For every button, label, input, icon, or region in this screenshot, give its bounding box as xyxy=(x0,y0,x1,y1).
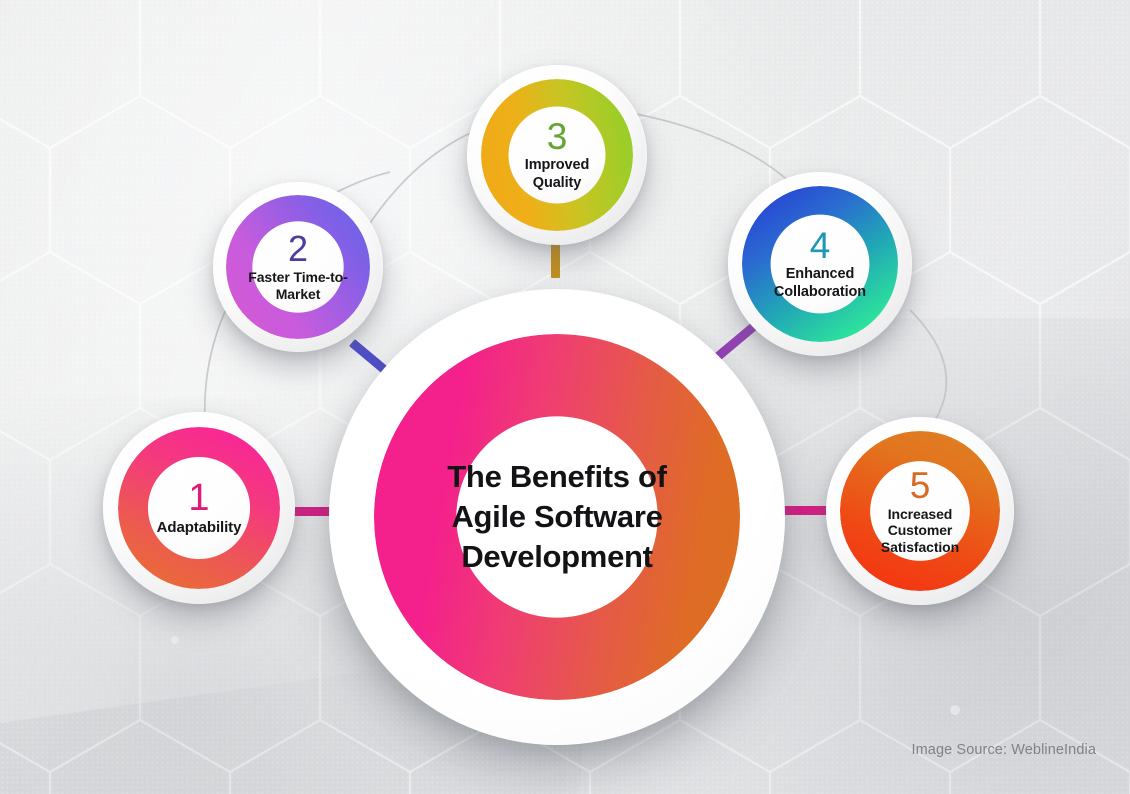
image-source-credit: Image Source: WeblineIndia xyxy=(912,742,1097,758)
node-3-content: 3 Improved Quality xyxy=(481,118,632,191)
node-4-content: 4 Enhanced Collaboration xyxy=(743,227,898,300)
node-5-label: Increased Customer Satisfaction xyxy=(841,506,999,556)
node-2-label-line-1: Faster Time-to- xyxy=(227,269,370,286)
node-4-label: Enhanced Collaboration xyxy=(743,266,898,300)
node-3-number: 3 xyxy=(481,118,632,155)
hub-title-line-2: Agile Software xyxy=(412,497,702,537)
hub-title-line-3: Development xyxy=(412,537,702,577)
node-2-label: Faster Time-to- Market xyxy=(227,269,370,302)
node-5-label-line-1: Increased xyxy=(841,506,999,523)
node-4-label-line-2: Collaboration xyxy=(743,284,898,301)
benefit-node-5[interactable]: 5 Increased Customer Satisfaction xyxy=(826,417,1014,605)
node-4-label-line-1: Enhanced xyxy=(743,266,898,283)
node-1-number: 1 xyxy=(118,479,279,517)
node-5-label-line-2: Customer xyxy=(841,522,999,539)
node-1-label: Adaptability xyxy=(118,519,279,537)
infographic-canvas: The Benefits of Agile Software Developme… xyxy=(0,0,1130,794)
node-5-number: 5 xyxy=(841,467,999,504)
node-4-number: 4 xyxy=(743,227,898,264)
node-1-content: 1 Adaptability xyxy=(118,479,279,537)
benefit-node-2[interactable]: 2 Faster Time-to- Market xyxy=(213,182,383,352)
node-3-label: Improved Quality xyxy=(481,157,632,191)
benefit-node-4[interactable]: 4 Enhanced Collaboration xyxy=(728,172,912,356)
node-2-number: 2 xyxy=(227,231,370,267)
arc-node4-node5 xyxy=(910,310,946,428)
node-1-label-line-1: Adaptability xyxy=(118,519,279,537)
node-5-content: 5 Increased Customer Satisfaction xyxy=(841,467,999,556)
node-2-label-line-2: Market xyxy=(227,286,370,303)
node-3-label-line-2: Quality xyxy=(481,175,632,192)
hub-title-line-1: The Benefits of xyxy=(412,457,702,497)
node-2-content: 2 Faster Time-to- Market xyxy=(227,231,370,302)
benefit-node-1[interactable]: 1 Adaptability xyxy=(103,412,295,604)
hub-title: The Benefits of Agile Software Developme… xyxy=(412,457,702,578)
node-3-label-line-1: Improved xyxy=(481,157,632,174)
benefit-node-3[interactable]: 3 Improved Quality xyxy=(467,65,647,245)
central-hub[interactable]: The Benefits of Agile Software Developme… xyxy=(329,289,785,745)
node-5-label-line-3: Satisfaction xyxy=(841,539,999,556)
